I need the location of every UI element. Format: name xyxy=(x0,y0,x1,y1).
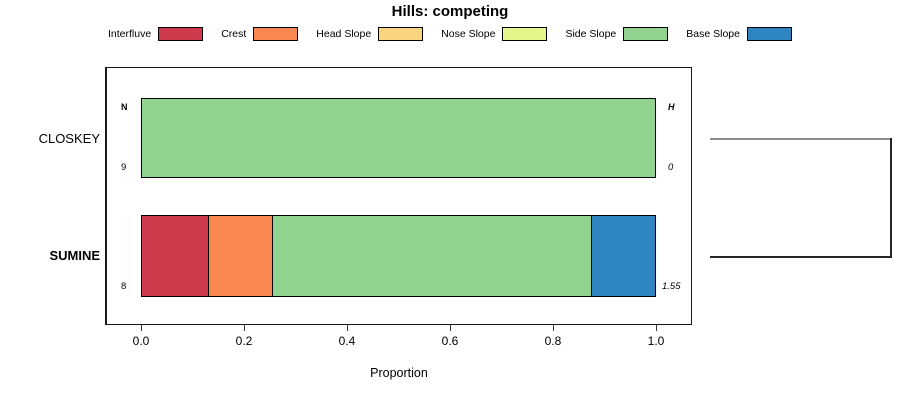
legend-item-interfluve[interactable]: Interfluve xyxy=(108,27,203,41)
dendrogram-arm-sumine xyxy=(710,256,892,258)
legend-item-crest[interactable]: Crest xyxy=(221,27,298,41)
legend-label: Crest xyxy=(221,28,246,40)
bar-segment[interactable] xyxy=(591,216,655,296)
x-axis-tick-label: 1.0 xyxy=(626,334,686,348)
legend-label: Base Slope xyxy=(686,28,740,40)
legend-item-nose-slope[interactable]: Nose Slope xyxy=(441,27,547,41)
chart-title: Hills: competing xyxy=(0,3,900,20)
bar-segment[interactable] xyxy=(208,216,273,296)
x-axis-tick-label: 0.0 xyxy=(111,334,171,348)
bar-segment[interactable] xyxy=(272,216,591,296)
x-axis-tick-label: 0.4 xyxy=(317,334,377,348)
x-axis-tick xyxy=(656,325,657,331)
h-value-sumine: 1.55 xyxy=(662,281,681,292)
x-axis-tick-label: 0.8 xyxy=(523,334,583,348)
stacked-bar-closkey[interactable] xyxy=(141,98,656,178)
legend-label: Side Slope xyxy=(565,28,616,40)
h-value-closkey: 0 xyxy=(668,162,673,173)
dendrogram-join xyxy=(890,138,892,258)
legend-swatch xyxy=(378,27,423,41)
row-label-sumine: SUMINE xyxy=(0,248,100,263)
x-axis-tick xyxy=(347,325,348,331)
x-axis-tick xyxy=(450,325,451,331)
legend-label: Head Slope xyxy=(316,28,371,40)
stacked-bar-sumine[interactable] xyxy=(141,215,656,297)
x-axis-tick xyxy=(244,325,245,331)
bar-segment[interactable] xyxy=(142,216,208,296)
legend: Interfluve Crest Head Slope Nose Slope S… xyxy=(0,27,900,41)
legend-item-side-slope[interactable]: Side Slope xyxy=(565,27,668,41)
axis-left-rule xyxy=(105,67,106,325)
legend-swatch xyxy=(502,27,547,41)
x-axis-tick xyxy=(141,325,142,331)
legend-item-base-slope[interactable]: Base Slope xyxy=(686,27,792,41)
h-header-closkey: H xyxy=(668,102,675,112)
legend-label: Interfluve xyxy=(108,28,151,40)
bar-segment[interactable] xyxy=(142,99,655,177)
legend-swatch xyxy=(747,27,792,41)
legend-swatch xyxy=(623,27,668,41)
x-axis-tick xyxy=(553,325,554,331)
x-axis-tick-label: 0.2 xyxy=(214,334,274,348)
x-axis-tick-label: 0.6 xyxy=(420,334,480,348)
n-value-closkey: 9 xyxy=(121,162,126,173)
dendrogram-arm-closkey xyxy=(710,138,892,140)
x-axis-title: Proportion xyxy=(106,366,692,380)
row-label-closkey: CLOSKEY xyxy=(0,131,100,146)
chart-root: Hills: competing Interfluve Crest Head S… xyxy=(0,0,900,400)
n-value-sumine: 8 xyxy=(121,281,126,292)
legend-swatch xyxy=(253,27,298,41)
dendrogram xyxy=(700,60,900,330)
legend-label: Nose Slope xyxy=(441,28,495,40)
n-header-closkey: N xyxy=(121,102,128,112)
legend-swatch xyxy=(158,27,203,41)
legend-item-head-slope[interactable]: Head Slope xyxy=(316,27,423,41)
